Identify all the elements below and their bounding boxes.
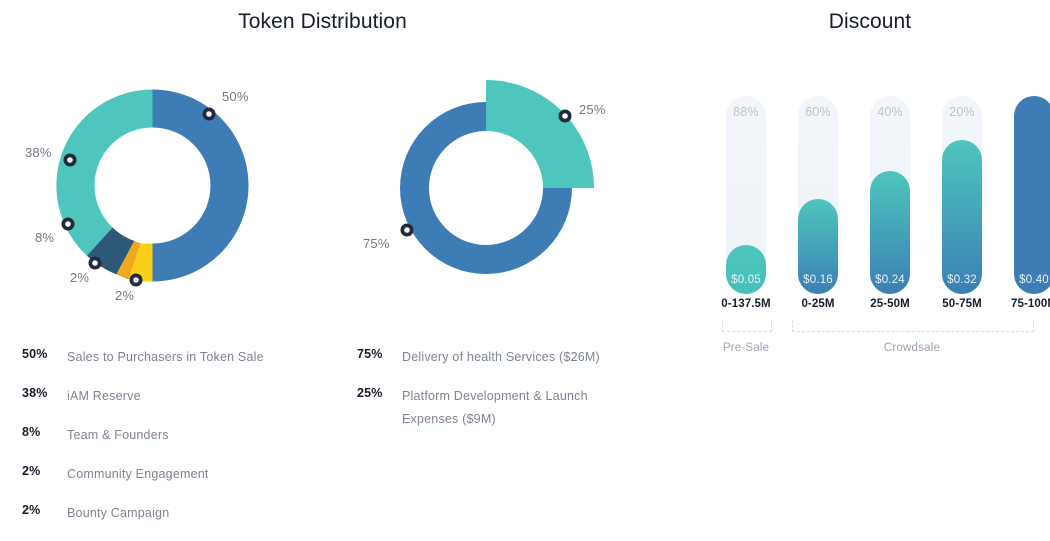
bar-column-0-25m[interactable]: 60% $0.16 0-25M: [798, 96, 838, 294]
bar-fill: [942, 140, 982, 294]
token-distribution-title: Token Distribution: [0, 10, 645, 34]
legend-label: Platform Development & Launch Expenses (…: [402, 385, 617, 431]
donut-1-label-2a: 2%: [70, 270, 89, 285]
bar-value-label: $0.32: [942, 274, 982, 286]
token-distribution-legend: 50% Sales to Purchasers in Token Sale 38…: [22, 346, 322, 541]
donut-slice-iam-reserve: [56, 89, 152, 255]
donut-marker-8-center: [65, 221, 71, 227]
donut-marker-2b-center: [133, 277, 139, 283]
donut-chart-2-svg: [383, 78, 603, 293]
legend-percent: 75%: [357, 346, 402, 363]
legend-percent: 50%: [22, 346, 67, 363]
legend-label: Community Engagement: [67, 463, 209, 486]
donut2-marker-75-center: [404, 227, 410, 233]
legend-label: Bounty Campaign: [67, 502, 169, 525]
bar-fill: [1014, 96, 1050, 294]
donut-1-label-8: 8%: [35, 230, 54, 245]
legend-item: 8% Team & Founders: [22, 424, 322, 447]
bar-column-50-75m[interactable]: 20% $0.32 50-75M: [942, 96, 982, 294]
donut-1-label-38: 38%: [25, 145, 52, 160]
legend-percent: 8%: [22, 424, 67, 441]
legend-label: Team & Founders: [67, 424, 169, 447]
donut-2-label-25: 25%: [579, 102, 606, 117]
bar-column-0-137-5m[interactable]: 88% $0.05 0-137.5M: [726, 96, 766, 294]
legend-percent: 2%: [22, 502, 67, 519]
legend-item: 25% Platform Development & Launch Expens…: [357, 385, 617, 431]
donut2-slice-platform-development: [486, 80, 594, 188]
donut-chart-1-svg: [45, 78, 260, 293]
bracket-label-crowdsale: Crowdsale: [862, 342, 962, 354]
bar-category-label: 50-75M: [936, 298, 988, 310]
legend-item: 2% Community Engagement: [22, 463, 322, 486]
bar-value-label: $0.40: [1014, 274, 1050, 286]
sale-phase-brackets: Pre-Sale Crowdsale: [706, 320, 1034, 334]
legend-item: 38% iAM Reserve: [22, 385, 322, 408]
bar-value-label: $0.16: [798, 274, 838, 286]
legend-item: 75% Delivery of health Services ($26M): [357, 346, 617, 369]
bar-value-label: $0.24: [870, 274, 910, 286]
bar-fill: [726, 245, 766, 295]
discount-bar-chart: 88% $0.05 0-137.5M 60% $0.16 0-25M 40% $…: [706, 96, 1034, 294]
bracket-crowdsale: [792, 320, 1034, 332]
legend-label: Sales to Purchasers in Token Sale: [67, 346, 264, 369]
legend-item: 2% Bounty Campaign: [22, 502, 322, 525]
legend-percent: 2%: [22, 463, 67, 480]
legend-percent: 25%: [357, 385, 402, 402]
funds-usage-legend: 75% Delivery of health Services ($26M) 2…: [357, 346, 617, 447]
bar-column-75-100m[interactable]: $0.40 75-100M: [1014, 96, 1050, 294]
funds-usage-donut-chart: 25% 75%: [383, 78, 603, 293]
donut-slice-sales-to-purchasers: [153, 90, 249, 282]
discount-title: Discount: [690, 10, 1050, 34]
donut-marker-38-center: [67, 157, 73, 163]
bar-value-label: $0.05: [726, 274, 766, 286]
bar-category-label: 0-25M: [792, 298, 844, 310]
bar-category-label: 0-137.5M: [720, 298, 772, 310]
bar-discount-label: 60%: [798, 105, 838, 119]
legend-label: Delivery of health Services ($26M): [402, 346, 600, 369]
donut-marker-50-center: [206, 111, 212, 117]
discount-panel: Discount 88% $0.05 0-137.5M 60% $0.16 0-…: [690, 0, 1050, 476]
bar-discount-label: 20%: [942, 105, 982, 119]
donut-1-label-2b: 2%: [115, 288, 134, 303]
bracket-label-pre-sale: Pre-Sale: [712, 342, 780, 354]
donut-marker-2a-center: [92, 260, 98, 266]
bar-category-label: 75-100M: [1008, 298, 1050, 310]
bar-column-25-50m[interactable]: 40% $0.24 25-50M: [870, 96, 910, 294]
bar-category-label: 25-50M: [864, 298, 916, 310]
bar-discount-label: 88%: [726, 105, 766, 119]
token-distribution-donut-chart: 50% 38% 8% 2% 2%: [45, 78, 260, 293]
donut2-marker-25-center: [562, 113, 568, 119]
donut-2-label-75: 75%: [363, 236, 390, 251]
bracket-pre-sale: [722, 320, 772, 332]
bar-discount-label: 40%: [870, 105, 910, 119]
legend-label: iAM Reserve: [67, 385, 141, 408]
legend-item: 50% Sales to Purchasers in Token Sale: [22, 346, 322, 369]
donut-1-label-50: 50%: [222, 89, 249, 104]
legend-percent: 38%: [22, 385, 67, 402]
token-distribution-panel: Token Distribution: [0, 0, 690, 476]
